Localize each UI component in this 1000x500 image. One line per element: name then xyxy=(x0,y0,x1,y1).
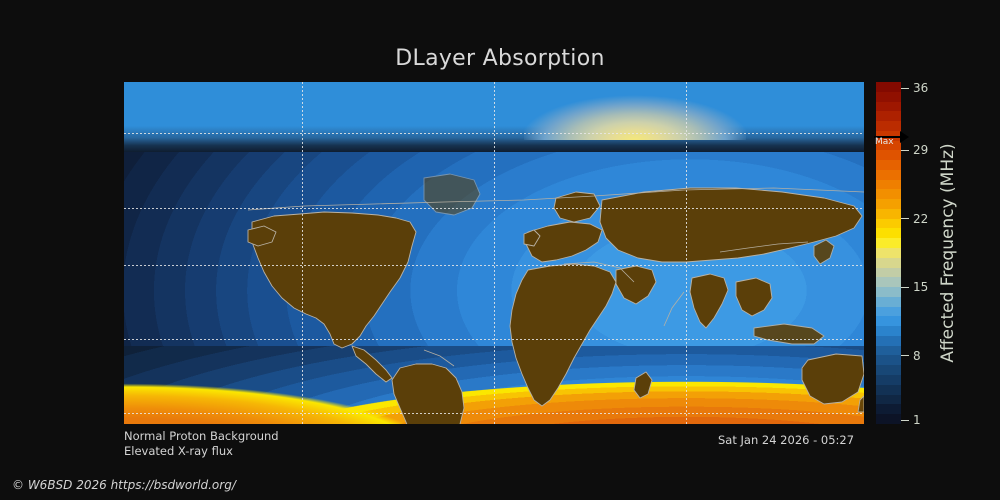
colorbar-tick: 1 xyxy=(901,413,921,427)
colorbar-segment xyxy=(876,219,901,229)
max-arrow-icon xyxy=(900,131,909,143)
colorbar-segment xyxy=(876,102,901,112)
colorbar-tick-dash xyxy=(901,218,909,219)
gridline-lon-0 xyxy=(494,82,495,424)
colorbar-segment xyxy=(876,180,901,190)
colorbar-segment xyxy=(876,287,901,297)
colorbar-segment xyxy=(876,92,901,102)
colorbar-segment xyxy=(876,365,901,375)
status-text: Normal Proton Background Elevated X-ray … xyxy=(124,429,279,459)
colorbar-segment xyxy=(876,277,901,287)
colorbar-segment xyxy=(876,189,901,199)
colorbar-tick-label: 22 xyxy=(913,212,928,226)
colorbar-tick-dash xyxy=(901,420,909,421)
gridline-lon-90W xyxy=(302,82,303,424)
page-title: DLayer Absorption xyxy=(0,46,1000,71)
colorbar-segment xyxy=(876,297,901,307)
colorbar-segment xyxy=(876,326,901,336)
colorbar-segment xyxy=(876,316,901,326)
colorbar-tick: 15 xyxy=(901,280,928,294)
colorbar-tick-label: 8 xyxy=(913,349,921,363)
colorbar-tick: 22 xyxy=(901,212,928,226)
colorbar-tick-label: 36 xyxy=(913,81,928,95)
max-marker-label: Max xyxy=(875,137,894,147)
colorbar-segment xyxy=(876,238,901,248)
colorbar-tick-label: 1 xyxy=(913,413,921,427)
colorbar-segment xyxy=(876,160,901,170)
status-line-1: Normal Proton Background xyxy=(124,429,279,444)
colorbar-tick-label: 15 xyxy=(913,280,928,294)
colorbar-tick-dash xyxy=(901,287,909,288)
colorbar-segment xyxy=(876,248,901,258)
colorbar-segment xyxy=(876,228,901,238)
status-line-2: Elevated X-ray flux xyxy=(124,444,279,459)
colorbar-segment xyxy=(876,199,901,209)
colorbar-segment xyxy=(876,375,901,385)
colorbar-tick-dash xyxy=(901,355,909,356)
colorbar-segment xyxy=(876,307,901,317)
copyright-notice: © W6BSD 2026 https://bsdworld.org/ xyxy=(12,478,236,492)
gridline-lon-90E xyxy=(686,82,687,424)
colorbar-tick: 36 xyxy=(901,81,928,95)
colorbar-segment xyxy=(876,82,901,92)
colorbar-tick-dash xyxy=(901,88,909,89)
absorption-map[interactable] xyxy=(124,82,864,424)
colorbar-max-marker: Max xyxy=(874,125,912,151)
colorbar-segment xyxy=(876,395,901,405)
colorbar-segment xyxy=(876,404,901,414)
colorbar-tick-label: 29 xyxy=(913,143,928,157)
colorbar-axis-label: Affected Frequency (MHz) xyxy=(936,82,960,424)
colorbar-segment xyxy=(876,170,901,180)
colorbar-segment xyxy=(876,355,901,365)
colorbar-segment xyxy=(876,150,901,160)
colorbar-segment xyxy=(876,336,901,346)
colorbar-tick: 8 xyxy=(901,349,921,363)
colorbar-segment xyxy=(876,258,901,268)
colorbar-segment xyxy=(876,268,901,278)
colorbar-segment xyxy=(876,209,901,219)
colorbar-segment xyxy=(876,385,901,395)
colorbar-segment xyxy=(876,111,901,121)
timestamp: Sat Jan 24 2026 - 05:27 xyxy=(718,433,854,447)
colorbar-segment xyxy=(876,414,901,424)
colorbar-segment xyxy=(876,346,901,356)
dlayer-absorption-page: DLayer Absorption xyxy=(0,0,1000,500)
